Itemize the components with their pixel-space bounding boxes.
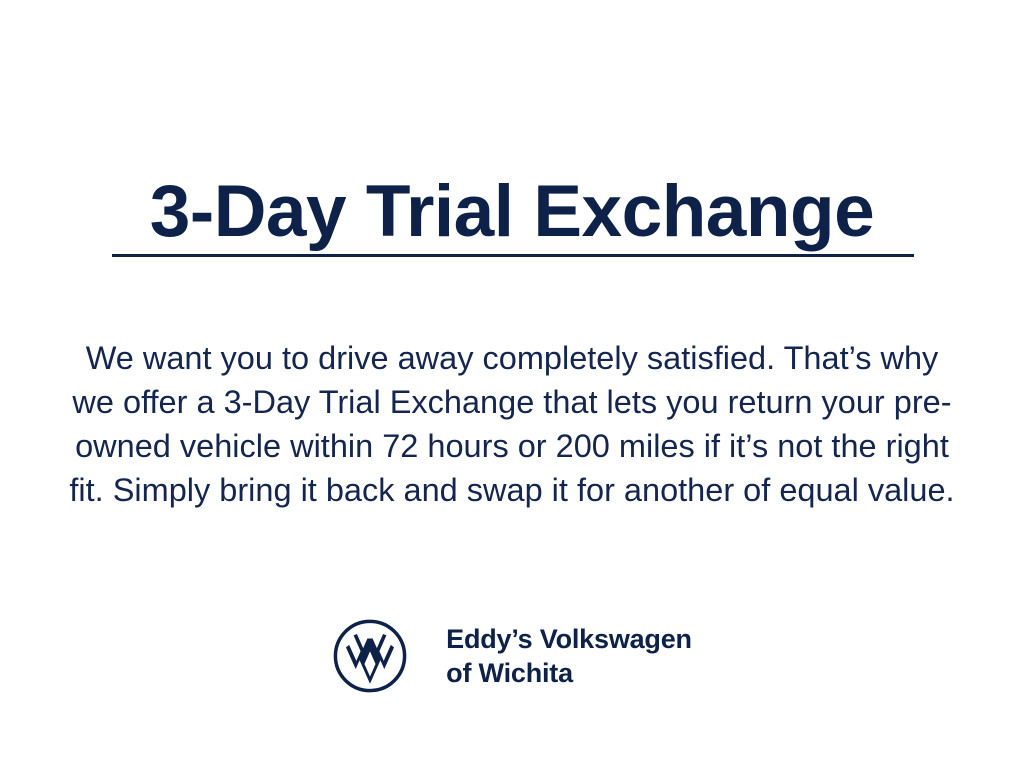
promo-slide: 3-Day Trial Exchange We want you to driv… (0, 0, 1024, 768)
brand-name: Eddy’s Volkswagen of Wichita (446, 622, 692, 690)
body-paragraph: We want you to drive away completely sat… (62, 336, 962, 512)
page-title: 3-Day Trial Exchange (0, 173, 1024, 252)
brand-name-line-2: of Wichita (446, 656, 692, 690)
brand-lockup: Eddy’s Volkswagen of Wichita (0, 618, 1024, 694)
brand-name-line-1: Eddy’s Volkswagen (446, 622, 692, 656)
volkswagen-logo-icon (332, 618, 408, 694)
title-divider-rule (112, 254, 914, 257)
